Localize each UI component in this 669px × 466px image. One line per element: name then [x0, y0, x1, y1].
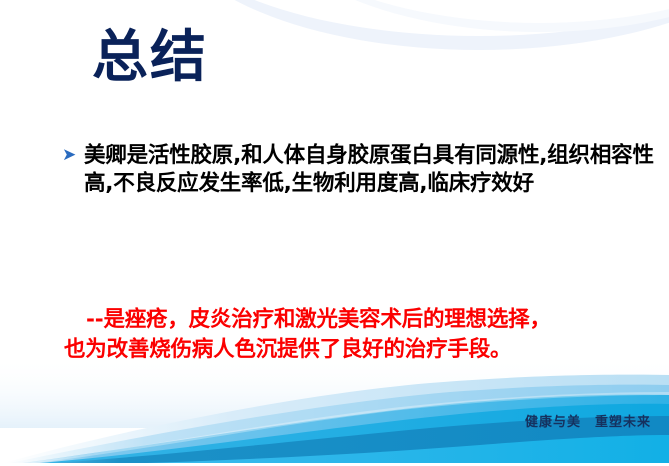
- arrow-bullet-icon: ➤: [62, 142, 84, 164]
- footer-tagline: 健康与美 重塑未来: [525, 411, 651, 430]
- bullet-list-item: ➤ 美卿是活性胶原,和人体自身胶原蛋白具有同源性,组织相容性高,不良反应发生率低…: [62, 142, 657, 198]
- top-arc-decoration-secondary: [259, 0, 669, 32]
- page-title: 总结: [92, 26, 208, 90]
- top-arc-decoration: [169, 0, 669, 50]
- slide-canvas: 总结 ➤ 美卿是活性胶原,和人体自身胶原蛋白具有同源性,组织相容性高,不良反应发…: [0, 0, 669, 466]
- emphasis-line-1: --是痤疮，皮炎治疗和激光美容术后的理想选择，: [64, 305, 634, 335]
- bullet-item-text: 美卿是活性胶原,和人体自身胶原蛋白具有同源性,组织相容性高,不良反应发生率低,生…: [84, 142, 657, 198]
